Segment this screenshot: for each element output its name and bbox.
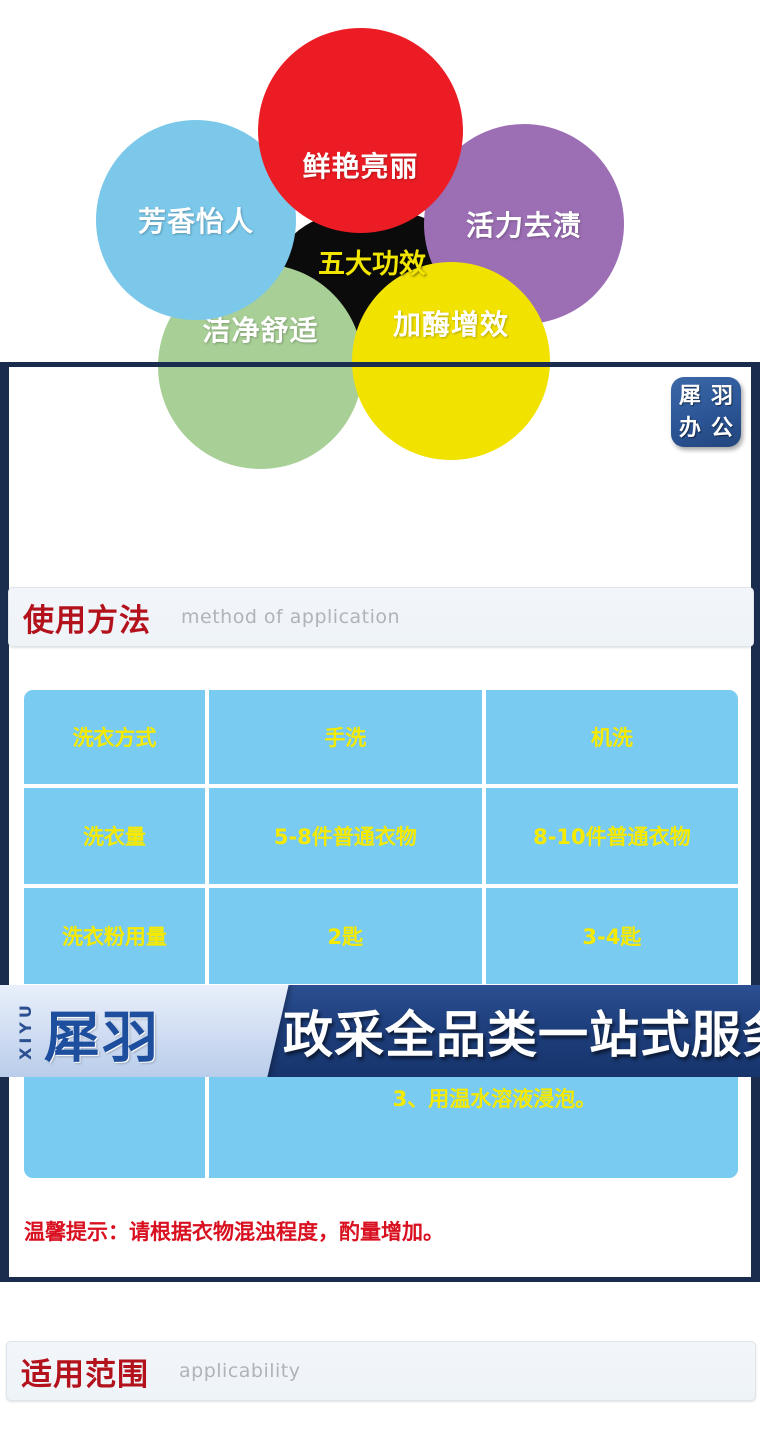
banner-brand-name: 犀羽 [44, 993, 160, 1074]
section-title-applicability-cn: 适用范围 [21, 1349, 149, 1394]
benefit-label-stain: 活力去渍 [466, 204, 582, 244]
banner-slogan: 政采全品类一站式服务 [283, 995, 760, 1067]
brand-logo-badge: 犀 羽 办 公 [671, 377, 741, 447]
section-header-applicability: 适用范围 applicability [6, 1341, 756, 1401]
table-header-row: 洗衣方式 手洗 机洗 [24, 690, 738, 784]
row-label-dosage: 洗衣粉用量 [24, 888, 205, 984]
table-header-method: 洗衣方式 [24, 690, 205, 784]
benefit-circle-enzyme: 加酶增效 [352, 262, 550, 460]
row-machine-dosage: 3-4匙 [486, 888, 738, 984]
warm-tips-text: 温馨提示：请根据衣物混浊程度，酌量增加。 [24, 1216, 724, 1246]
banner-latin-mark: XIYU [13, 999, 38, 1063]
advice-item-3: 3、用温水溶液浸泡。 [209, 1076, 738, 1120]
product-detail-page: 芳香怡人 鲜艳亮丽 活力去渍 洁净舒适 加酶增效 五大功效 犀 羽 办 公 使用… [0, 0, 760, 1452]
table-row: 洗衣粉用量 2匙 3-4匙 [24, 888, 738, 984]
benefit-label-enzyme: 加酶增效 [393, 303, 509, 343]
section-header-usage: 使用方法 method of application [8, 587, 754, 647]
row-label-load: 洗衣量 [24, 788, 205, 884]
benefit-label-fragrance: 芳香怡人 [138, 200, 254, 240]
row-machine-load: 8-10件普通衣物 [486, 788, 738, 884]
table-header-machine: 机洗 [486, 690, 738, 784]
five-benefits-diagram: 芳香怡人 鲜艳亮丽 活力去渍 洁净舒适 加酶增效 五大功效 [0, 0, 760, 365]
logo-char-4: 公 [706, 413, 738, 443]
watermark-banner: XIYU 犀羽 政采全品类一站式服务 [0, 985, 760, 1077]
section-title-usage-en: method of application [181, 606, 400, 628]
table-row: 洗衣量 5-8件普通衣物 8-10件普通衣物 [24, 788, 738, 884]
row-hand-dosage: 2匙 [209, 888, 482, 984]
five-benefits-title: 五大功效 [292, 238, 452, 284]
section-title-usage-cn: 使用方法 [23, 595, 151, 640]
section-title-applicability-en: applicability [179, 1360, 301, 1382]
logo-char-2: 羽 [706, 381, 738, 411]
table-header-hand: 手洗 [209, 690, 482, 784]
benefit-label-bright: 鲜艳亮丽 [302, 145, 418, 185]
usage-table: 洗衣方式 手洗 机洗 洗衣量 5-8件普通衣物 8-10件普通衣物 洗衣粉用量 … [20, 686, 742, 1182]
benefit-circle-bright: 鲜艳亮丽 [258, 28, 463, 233]
row-hand-load: 5-8件普通衣物 [209, 788, 482, 884]
logo-char-3: 办 [674, 413, 706, 443]
logo-char-1: 犀 [674, 381, 706, 411]
